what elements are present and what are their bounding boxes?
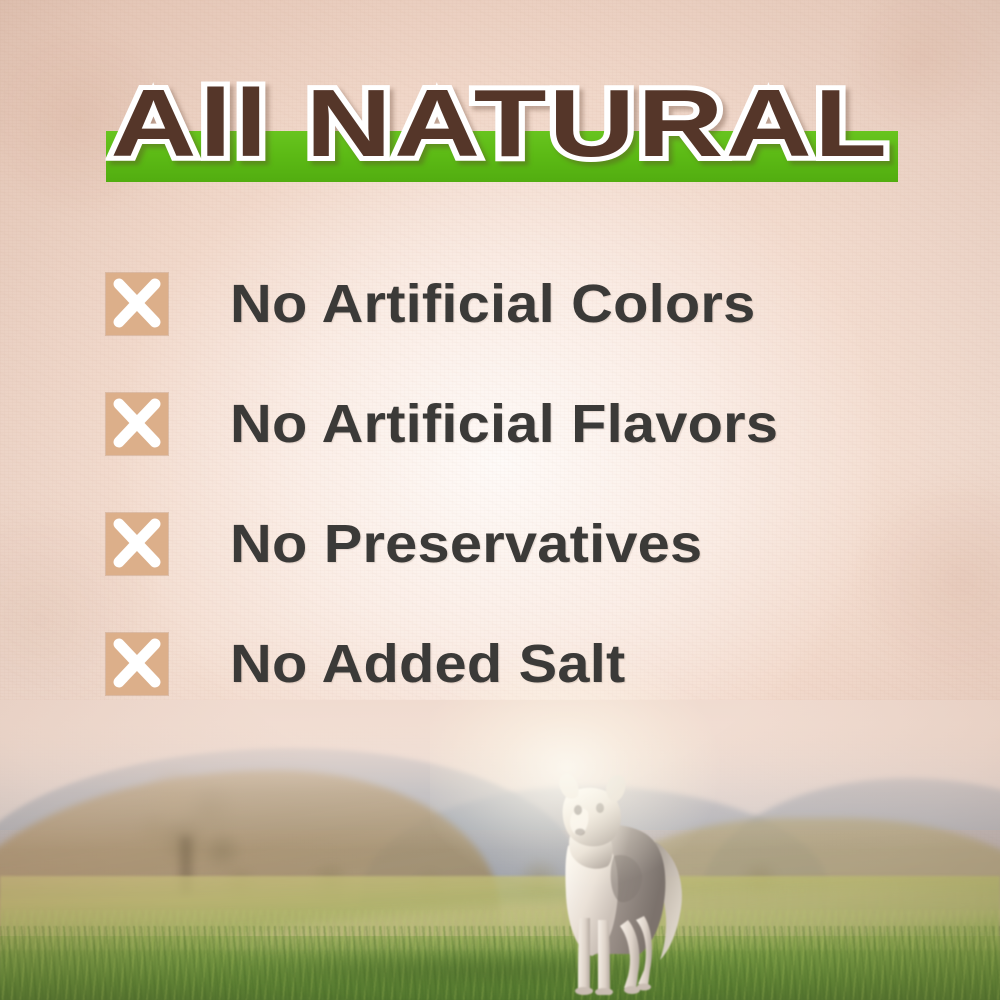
list-item: No Added Salt [0, 604, 1000, 724]
list-item: No Preservatives [0, 484, 1000, 604]
x-mark-icon [106, 393, 168, 455]
dog-icon [528, 770, 698, 995]
page-title: All NATURAL [0, 76, 1000, 172]
list-item-label: No Added Salt [230, 633, 625, 695]
product-feature-poster: All NATURAL No Artificial Colors No Arti… [0, 0, 1000, 1000]
x-mark-icon [106, 273, 168, 335]
benefits-list: No Artificial Colors No Artificial Flavo… [0, 244, 1000, 724]
x-mark-icon [106, 633, 168, 695]
list-item: No Artificial Colors [0, 244, 1000, 364]
list-item-label: No Artificial Colors [230, 273, 755, 335]
tree-crown [122, 744, 262, 894]
list-item: No Artificial Flavors [0, 364, 1000, 484]
list-item-label: No Preservatives [230, 513, 702, 575]
x-mark-icon [106, 513, 168, 575]
landscape-photo [0, 700, 1000, 1000]
list-item-label: No Artificial Flavors [230, 393, 778, 455]
field-shadow [100, 950, 880, 990]
tree-icon [122, 744, 262, 894]
